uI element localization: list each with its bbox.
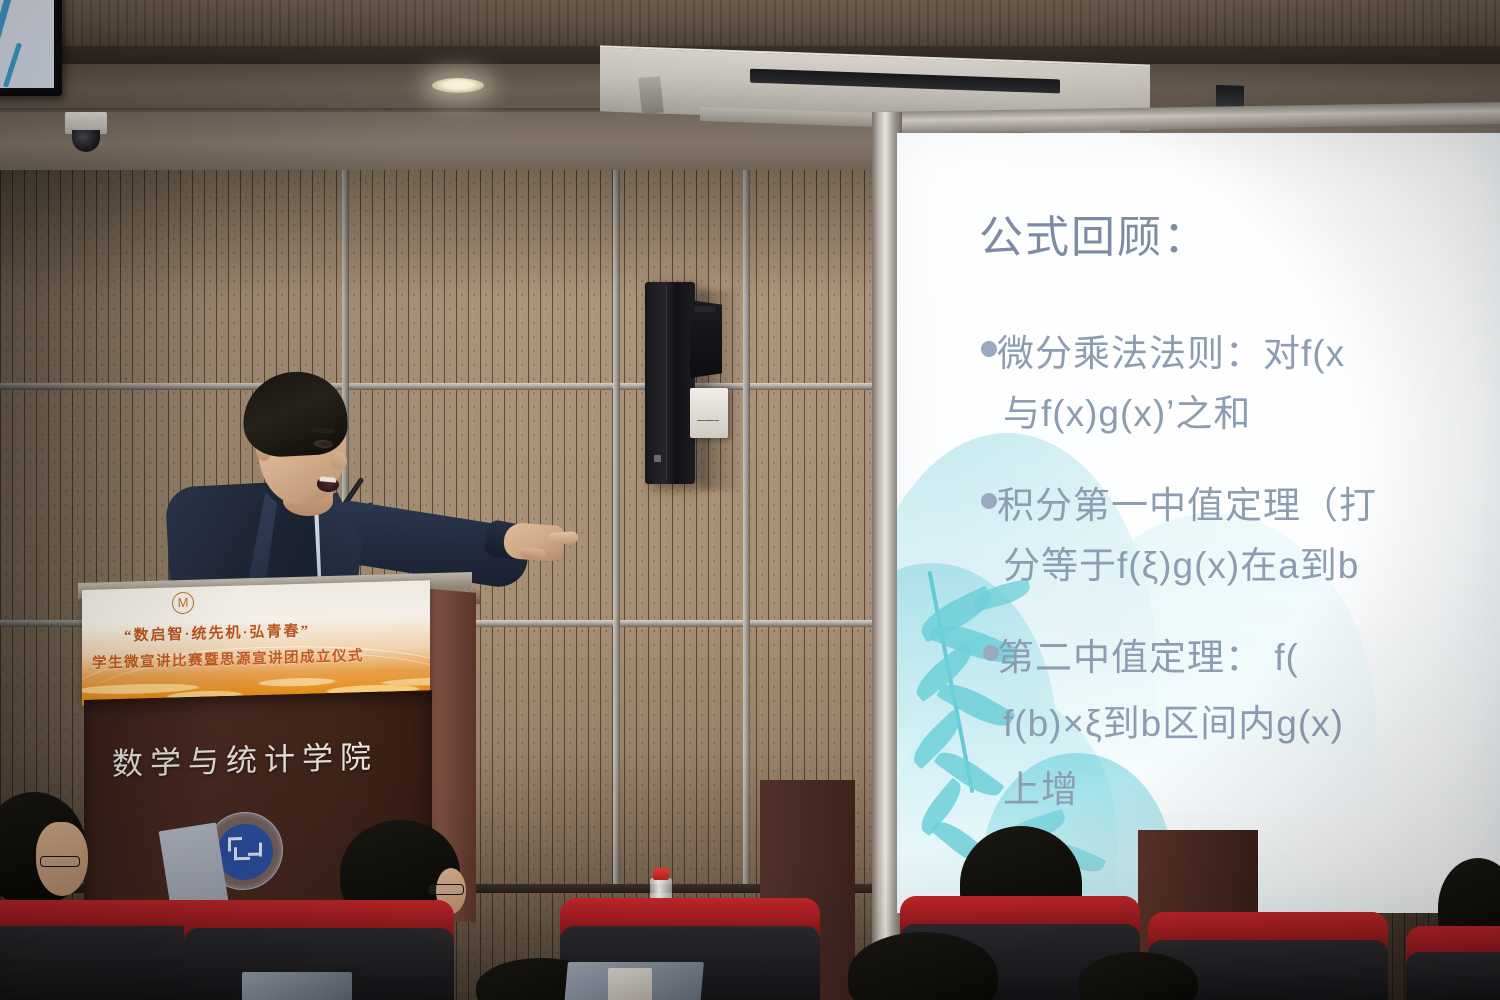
slide-line-1b: 与f(x)g(x)’之和: [1003, 383, 1251, 437]
laptop-keyboard-1[interactable]: [608, 968, 652, 1000]
wall-monitor[interactable]: [0, 0, 62, 96]
glasses-icon: [40, 856, 80, 867]
glasses-icon-2: [428, 884, 464, 895]
monitor-screen: [0, 0, 54, 88]
seat-back-1[interactable]: [0, 926, 210, 1000]
slide-line-2b: 分等于f(ξ)g(x)在a到b: [1003, 535, 1359, 589]
projection-screen: 公式回顾： 微分乘法法则：对f(x 与f(x)g(x)’之和 积分第一中值定理（…: [897, 133, 1500, 913]
speaker-mount-arm: [694, 306, 716, 312]
slide-line-2a: 积分第一中值定理（打: [997, 475, 1377, 529]
monitor-stroke-1: [0, 0, 16, 46]
laptop-screen-2[interactable]: [242, 972, 352, 1000]
slide-bullet-marker-1: [981, 341, 997, 357]
slide-line-3c: 上增: [1003, 759, 1079, 813]
wall-speaker-icon: [645, 282, 695, 484]
vent-tab: [638, 76, 664, 113]
downlight-icon: [432, 78, 484, 93]
monitor-stroke-3: [3, 42, 22, 87]
vent-slot-primary: [750, 69, 1060, 94]
podium-department-name: 数学与统计学院: [112, 731, 378, 783]
wall-outlet-plate: [690, 388, 728, 438]
slide-title: 公式回顾：: [979, 201, 1209, 265]
slide-content: 公式回顾： 微分乘法法则：对f(x 与f(x)g(x)’之和 积分第一中值定理（…: [897, 133, 1500, 913]
presenter-index-finger: [548, 531, 579, 545]
presenter-nose: [331, 452, 347, 470]
seat-back-6[interactable]: [1406, 952, 1500, 1000]
slide-line-1a: 微分乘法法则：对f(x: [997, 323, 1345, 377]
ceiling-wood-beam: [0, 0, 1500, 46]
slide-line-3b: f(b)×ξ到b区间内g(x): [1003, 693, 1344, 747]
emblem-knot-glyph: [222, 828, 268, 875]
lecture-hall-photo: 公式回顾： 微分乘法法则：对f(x 与f(x)g(x)’之和 积分第一中值定理（…: [0, 0, 1500, 1000]
speaker-logo-badge: [654, 455, 661, 462]
slide-bullet-marker-2: [981, 493, 997, 509]
bottle-cap-1: [653, 868, 669, 880]
slide-line-3a: 第二中值定理： f(: [997, 627, 1299, 681]
